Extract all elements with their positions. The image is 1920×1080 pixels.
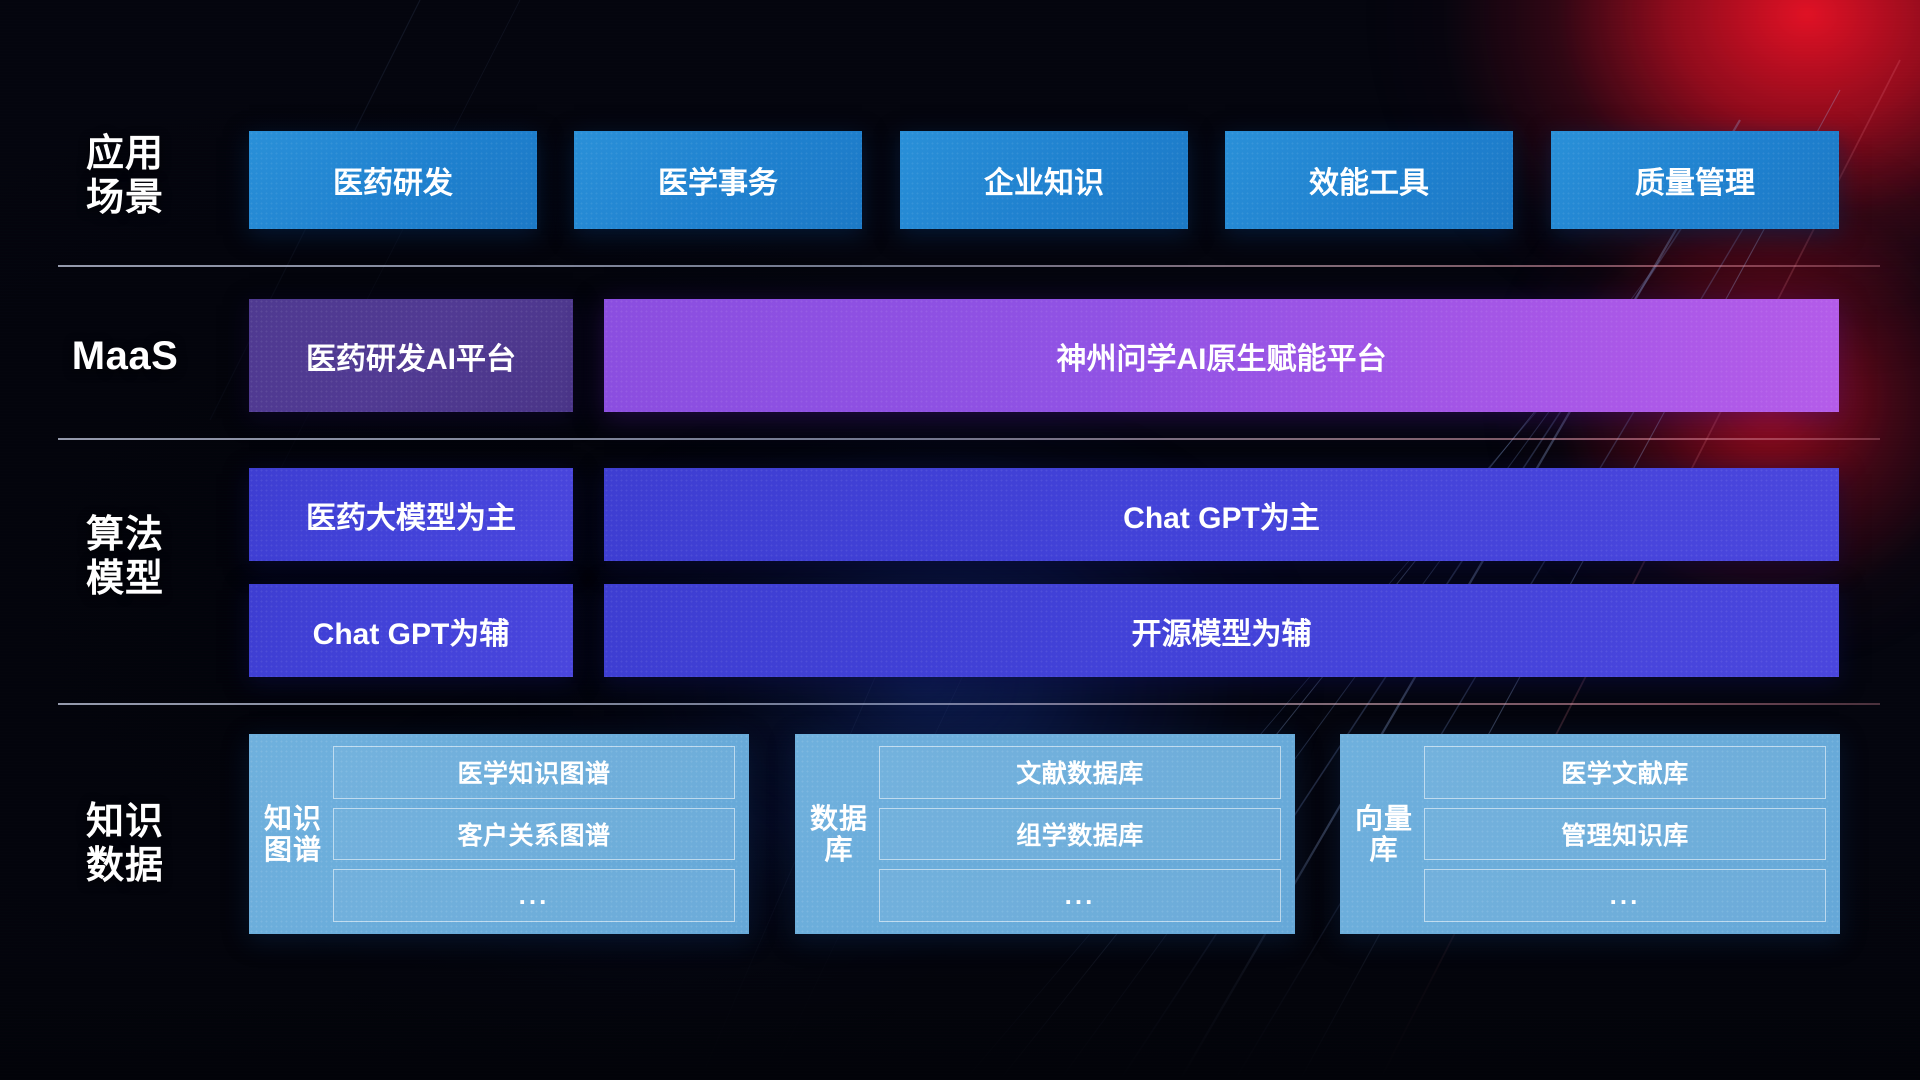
divider-maas-algorithm [58,438,1880,440]
knowledge-group-2-item-1[interactable]: 管理知识库 [1424,808,1826,861]
knowledge-group-1-item-1[interactable]: 组学数据库 [879,808,1281,861]
algorithm-card-row1-left-label: Chat GPT为辅 [313,609,510,653]
algorithm-card-row0-left-label: 医药大模型为主 [306,493,516,537]
knowledge-group-1[interactable]: 数据库 文献数据库 组学数据库 ... [795,734,1295,934]
layer-label-knowledge-line1: 知识 [40,800,210,844]
algorithm-card-row0-right-label: Chat GPT为主 [1123,493,1320,537]
algorithm-card-row0-left[interactable]: 医药大模型为主 [249,468,573,561]
divider-application-maas [58,265,1880,267]
app-card-3-label: 效能工具 [1309,158,1429,202]
layer-label-maas-text: MaaS [40,333,210,379]
app-card-0-label: 医药研发 [333,158,453,202]
maas-card-1-label: 神州问学AI原生赋能平台 [1057,334,1387,378]
app-card-3[interactable]: 效能工具 [1225,131,1513,229]
knowledge-group-0-title: 知识图谱 [259,746,327,922]
knowledge-group-2[interactable]: 向量库 医学文献库 管理知识库 ... [1340,734,1840,934]
layer-label-application: 应用 场景 [40,132,210,220]
knowledge-group-0-items: 医学知识图谱 客户关系图谱 ... [327,746,735,922]
app-card-4-label: 质量管理 [1635,158,1755,202]
architecture-diagram: 应用 场景 医药研发 医学事务 企业知识 效能工具 质量管理 MaaS 医药研发… [0,0,1920,1080]
knowledge-group-1-items: 文献数据库 组学数据库 ... [873,746,1281,922]
knowledge-group-1-item-2[interactable]: ... [879,869,1281,922]
knowledge-group-0-item-0[interactable]: 医学知识图谱 [333,746,735,799]
layer-label-knowledge: 知识 数据 [40,800,210,888]
knowledge-group-1-item-0[interactable]: 文献数据库 [879,746,1281,799]
knowledge-group-0-item-1[interactable]: 客户关系图谱 [333,808,735,861]
divider-algorithm-knowledge [58,703,1880,705]
layer-label-application-line2: 场景 [40,176,210,220]
algorithm-card-row0-right[interactable]: Chat GPT为主 [604,468,1839,561]
algorithm-card-row1-right-label: 开源模型为辅 [1132,609,1312,653]
knowledge-group-0-item-2[interactable]: ... [333,869,735,922]
app-card-2-label: 企业知识 [984,158,1104,202]
knowledge-group-2-title: 向量库 [1350,746,1418,922]
maas-card-1[interactable]: 神州问学AI原生赋能平台 [604,299,1839,412]
layer-label-algorithm-line1: 算法 [40,513,210,557]
app-card-4[interactable]: 质量管理 [1551,131,1839,229]
layer-label-application-line1: 应用 [40,132,210,176]
layer-label-algorithm: 算法 模型 [40,513,210,601]
layer-label-maas: MaaS [40,333,210,379]
app-card-2[interactable]: 企业知识 [900,131,1188,229]
layer-label-algorithm-line2: 模型 [40,557,210,601]
algorithm-card-row1-right[interactable]: 开源模型为辅 [604,584,1839,677]
knowledge-group-2-items: 医学文献库 管理知识库 ... [1418,746,1826,922]
maas-card-0-label: 医药研发AI平台 [306,334,516,378]
knowledge-group-1-title: 数据库 [805,746,873,922]
knowledge-group-2-item-2[interactable]: ... [1424,869,1826,922]
maas-card-0[interactable]: 医药研发AI平台 [249,299,573,412]
algorithm-card-row1-left[interactable]: Chat GPT为辅 [249,584,573,677]
app-card-0[interactable]: 医药研发 [249,131,537,229]
knowledge-group-2-item-0[interactable]: 医学文献库 [1424,746,1826,799]
app-card-1-label: 医学事务 [658,158,778,202]
app-card-1[interactable]: 医学事务 [574,131,862,229]
knowledge-group-0[interactable]: 知识图谱 医学知识图谱 客户关系图谱 ... [249,734,749,934]
layer-label-knowledge-line2: 数据 [40,844,210,888]
